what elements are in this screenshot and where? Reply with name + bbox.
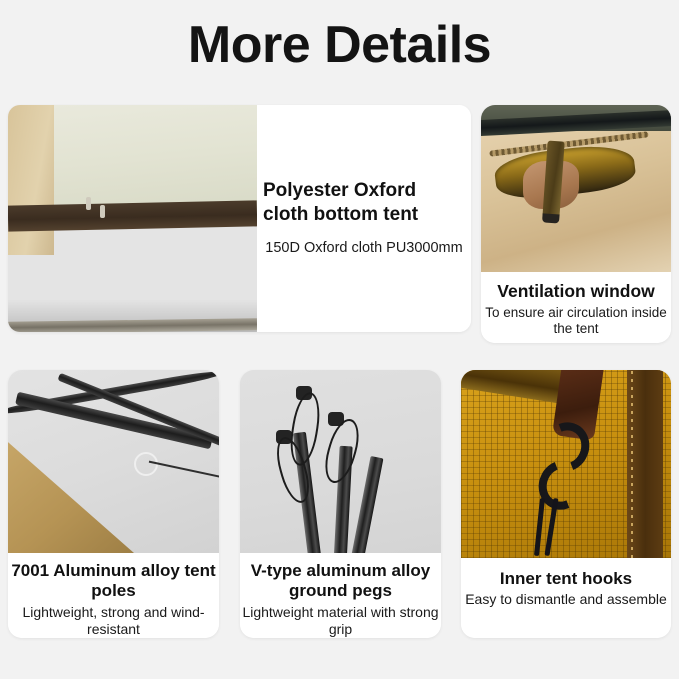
inner-tent-hooks-caption: Inner tent hooks Easy to dismantle and a…	[461, 558, 671, 638]
card-subtitle: Easy to dismantle and assemble	[461, 591, 671, 608]
tent-clip-icon	[100, 205, 105, 218]
ground-pegs-caption: V-type aluminum alloy ground pegs Lightw…	[240, 553, 441, 638]
card-inner-tent-hooks[interactable]: Inner tent hooks Easy to dismantle and a…	[461, 370, 671, 638]
bottom-tent-photo	[8, 105, 257, 332]
ventilation-photo	[481, 105, 671, 272]
card-title: Inner tent hooks	[461, 569, 671, 589]
tent-floor	[8, 223, 257, 332]
tent-floor-edge	[8, 318, 257, 332]
tent-poles-photo	[8, 370, 219, 553]
inner-tent-hooks-photo	[461, 370, 671, 558]
card-subtitle: Lightweight material with strong grip	[240, 604, 441, 638]
card-title: Polyester Oxford cloth bottom tent	[263, 179, 465, 227]
card-ventilation[interactable]: Ventilation window To ensure air circula…	[481, 105, 671, 343]
side-seam-strip	[627, 370, 663, 558]
bottom-tent-textpane: Polyester Oxford cloth bottom tent 150D …	[257, 105, 471, 332]
page-title: More Details	[0, 16, 679, 76]
card-title: Ventilation window	[481, 281, 671, 302]
card-title: V-type aluminum alloy ground pegs	[240, 561, 441, 602]
card-subtitle: To ensure air circulation inside the ten…	[481, 305, 671, 338]
card-ground-pegs[interactable]: V-type aluminum alloy ground pegs Lightw…	[240, 370, 441, 638]
card-bottom-tent[interactable]: Polyester Oxford cloth bottom tent 150D …	[8, 105, 471, 332]
card-subtitle: 150D Oxford cloth PU3000mm	[265, 240, 462, 258]
card-tent-poles[interactable]: 7001 Aluminum alloy tent poles Lightweig…	[8, 370, 219, 638]
tent-poles-caption: 7001 Aluminum alloy tent poles Lightweig…	[8, 553, 219, 638]
card-subtitle: Lightweight, strong and wind-resistant	[8, 604, 219, 638]
tent-clip-icon	[86, 197, 91, 210]
ventilation-caption: Ventilation window To ensure air circula…	[481, 272, 671, 343]
s-hook-icon	[539, 422, 583, 508]
card-title: 7001 Aluminum alloy tent poles	[8, 561, 219, 602]
ground-pegs-photo	[240, 370, 441, 553]
product-details-page: More Details Polyester Oxford cloth bott…	[0, 0, 679, 679]
